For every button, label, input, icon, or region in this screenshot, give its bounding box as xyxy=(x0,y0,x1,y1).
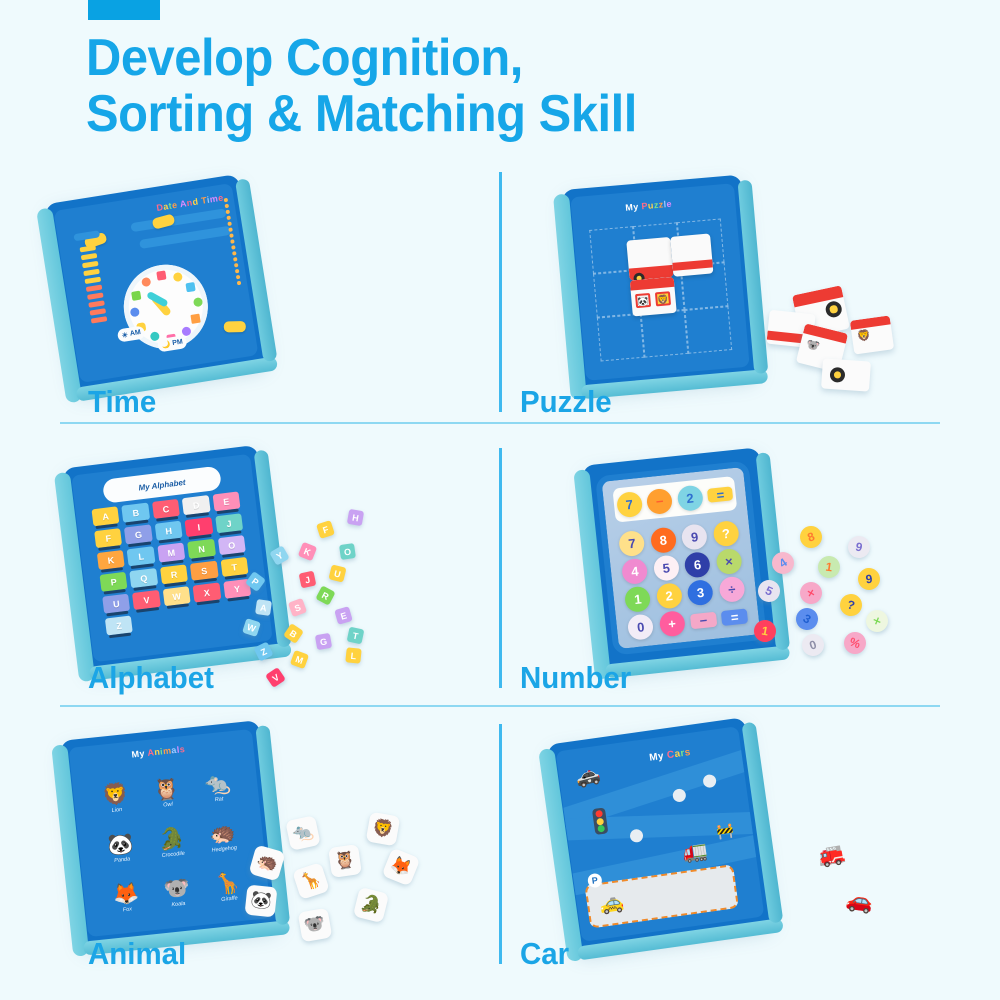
alphabet-tile: K xyxy=(97,550,125,570)
alphabet-tile: J xyxy=(215,513,243,533)
zipper-dots-right xyxy=(224,198,242,286)
car-product-photo: My Cars 🚓 🚧 🚛 P 🚕 xyxy=(500,724,1000,954)
clock-marker xyxy=(129,307,139,317)
animal-icon: 🐨 xyxy=(163,877,191,901)
alphabet-tile: B xyxy=(122,503,150,523)
animal-icon: 🦁 xyxy=(101,783,129,807)
alphabet-loose-tile: F xyxy=(316,520,335,539)
alphabet-tile: E xyxy=(212,491,240,511)
alphabet-tile: Q xyxy=(130,568,158,588)
clock-marker xyxy=(191,313,201,323)
time-slider-knob-3 xyxy=(224,321,246,332)
puzzle-product-photo: My Puzzle xyxy=(500,172,1000,402)
animal-loose-piece: 🦉 xyxy=(328,844,362,878)
animal-card: 🦉Owl xyxy=(152,777,181,809)
keypad-tile: ? xyxy=(712,519,739,546)
taxi-icon: 🚕 xyxy=(598,889,626,917)
product-feature-grid: Date And Time ☀ AM xyxy=(0,172,1000,1000)
cell-label-alphabet: Alphabet xyxy=(88,660,214,696)
animal-loose-piece: 🐀 xyxy=(285,815,321,851)
puzzle-piece-loose-4: 🦁 xyxy=(850,315,894,354)
car-quiet-book: My Cars 🚓 🚧 🚛 P 🚕 xyxy=(546,717,773,951)
keypad-tile: 7 xyxy=(618,529,645,556)
alphabet-loose-tile: H xyxy=(347,509,364,526)
number-loose-tile: × xyxy=(798,580,825,607)
keypad-tile: = xyxy=(721,608,748,626)
page-title: Develop Cognition, Sorting & Matching Sk… xyxy=(86,30,885,142)
alphabet-loose-tile: S xyxy=(288,598,307,617)
animal-loose-piece: 🦒 xyxy=(292,862,330,900)
equation-tile: 7 xyxy=(616,490,643,517)
cell-label-puzzle: Puzzle xyxy=(520,384,612,420)
traffic-cone-icon: 🚧 xyxy=(715,822,735,841)
keypad-tile: 3 xyxy=(687,578,714,605)
alphabet-tile: F xyxy=(94,528,122,548)
car-loose-piece: 🚒 xyxy=(816,840,848,870)
animal-icon: 🦉 xyxy=(152,777,180,801)
alphabet-loose-tile: L xyxy=(345,647,361,663)
time-quiet-book: Date And Time ☀ AM xyxy=(44,174,267,392)
clock-marker xyxy=(186,281,196,291)
cell-label-animal: Animal xyxy=(88,936,186,972)
alphabet-tile: P xyxy=(100,572,128,592)
animal-card-grid: 🦁Lion🦉Owl🐀Rat🐼Panda🐊Crocodile🦔Hedgehog🦊F… xyxy=(88,760,257,925)
feature-cell-animal[interactable]: My Animals 🦁Lion🦉Owl🐀Rat🐼Panda🐊Crocodile… xyxy=(0,724,500,1000)
number-loose-tile: 9 xyxy=(857,567,881,591)
keypad-tile: 1 xyxy=(624,585,651,612)
alphabet-tile: V xyxy=(132,590,160,610)
alphabet-quiet-book: My Alphabet ABCDEFGHIJKLMNOPQRSTUVWXYZ xyxy=(62,445,281,671)
animal-card: 🐼Panda xyxy=(106,832,135,864)
alphabet-loose-tile: M xyxy=(290,650,309,669)
alphabet-tile: X xyxy=(193,582,221,602)
number-loose-tile: 0 xyxy=(799,631,827,659)
keypad-tile: ÷ xyxy=(718,575,745,602)
date-slider-knob-1 xyxy=(151,213,175,229)
animal-icon: 🦒 xyxy=(214,871,242,895)
equation-tile: − xyxy=(646,487,673,514)
number-quiet-book: 7−2= 789?456×123÷0+−= xyxy=(582,447,780,668)
animal-icon: 🦔 xyxy=(209,822,237,846)
sun-icon: ☀ xyxy=(121,331,128,340)
animal-card: 🐊Crocodile xyxy=(158,827,187,859)
feature-cell-alphabet[interactable]: My Alphabet ABCDEFGHIJKLMNOPQRSTUVWXYZ F… xyxy=(0,448,500,724)
animal-card: 🦔Hedgehog xyxy=(209,822,238,854)
alphabet-tile: I xyxy=(185,517,213,537)
time-product-photo: Date And Time ☀ AM xyxy=(0,172,500,402)
number-loose-tile: 1 xyxy=(817,555,842,580)
animal-icon: 🐀 xyxy=(203,772,231,796)
alphabet-tile: N xyxy=(187,539,215,559)
alphabet-loose-tile: O xyxy=(339,543,356,560)
alphabet-tile: M xyxy=(157,542,185,562)
alphabet-loose-tile: K xyxy=(298,542,318,562)
alphabet-tile: O xyxy=(218,535,246,555)
number-loose-tile: × xyxy=(863,607,892,636)
alphabet-loose-tile: G xyxy=(315,633,332,650)
keypad-tile: 0 xyxy=(627,613,654,640)
keypad-tile: + xyxy=(658,610,685,637)
clock-marker xyxy=(141,277,151,287)
number-keypad: 789?456×123÷0+−= xyxy=(615,518,752,643)
animal-card: 🐨Koala xyxy=(163,877,192,909)
alphabet-tile: L xyxy=(127,546,155,566)
animal-loose-piece: 🐼 xyxy=(245,885,278,918)
animal-loose-piece: 🐨 xyxy=(298,908,333,943)
animal-card: 🐀Rat xyxy=(203,772,232,804)
animal-product-photo: My Animals 🦁Lion🦉Owl🐀Rat🐼Panda🐊Crocodile… xyxy=(0,724,500,954)
animal-icon: 🐼 xyxy=(106,832,134,856)
number-loose-tile: 9 xyxy=(846,534,872,560)
animal-card: 🦁Lion xyxy=(101,783,130,815)
accent-bar xyxy=(88,0,160,20)
alphabet-tile: Z xyxy=(105,615,133,635)
animal-icon: 🐊 xyxy=(158,827,186,851)
keypad-tile: 6 xyxy=(684,551,711,578)
moon-icon: 🌙 xyxy=(161,340,171,349)
keypad-tile: 8 xyxy=(650,526,677,553)
equation-strip: 7−2= xyxy=(612,476,737,523)
alphabet-tile: W xyxy=(163,586,191,606)
feature-cell-puzzle[interactable]: My Puzzle xyxy=(500,172,1000,448)
puzzle-book-title: My Puzzle xyxy=(625,199,672,213)
alphabet-tile: A xyxy=(91,506,119,526)
alphabet-tile: T xyxy=(220,557,248,577)
animal-icon: 🦊 xyxy=(112,882,140,906)
alphabet-tile: D xyxy=(182,495,210,515)
puzzle-piece-placed-1 xyxy=(626,237,673,281)
alphabet-loose-tile: R xyxy=(315,585,335,605)
police-car-icon: 🚓 xyxy=(573,761,603,791)
cell-label-number: Number xyxy=(520,660,631,696)
alphabet-loose-tile: T xyxy=(347,627,365,645)
number-loose-tile: % xyxy=(841,629,869,657)
animal-loose-piece: 🐊 xyxy=(353,887,389,923)
date-slider-track-2 xyxy=(139,226,231,249)
alphabet-tile: G xyxy=(124,524,152,544)
keypad-tile: 4 xyxy=(621,557,648,584)
book-page: My Puzzle xyxy=(570,183,749,381)
feature-cell-car[interactable]: My Cars 🚓 🚧 🚛 P 🚕 xyxy=(500,724,1000,1000)
book-page: My Animals 🦁Lion🦉Owl🐀Rat🐼Panda🐊Crocodile… xyxy=(69,729,272,937)
alphabet-tile: R xyxy=(160,564,188,584)
clock-marker xyxy=(192,297,202,307)
alphabet-loose-tile: V xyxy=(265,667,286,688)
animal-card: 🦒Giraffe xyxy=(214,871,243,903)
car-book-title: My Cars xyxy=(649,747,692,764)
time-tick-column xyxy=(80,245,108,324)
cell-label-car: Car xyxy=(520,936,569,972)
number-loose-tile: ? xyxy=(837,591,864,618)
alphabet-tile: U xyxy=(102,594,130,614)
animal-book-title: My Animals xyxy=(131,744,185,760)
alphabet-loose-tile: E xyxy=(334,606,353,625)
keypad-tile: 2 xyxy=(655,582,682,609)
keypad-tile: 5 xyxy=(652,554,679,581)
equation-tile: = xyxy=(707,486,733,503)
car-loose-piece: 🚗 xyxy=(844,886,875,916)
alphabet-tile: S xyxy=(190,561,218,581)
animal-loose-piece: 🦁 xyxy=(366,812,401,847)
alphabet-tile-grid: ABCDEFGHIJKLMNOPQRSTUVWXYZ xyxy=(91,491,253,635)
keypad-tile: − xyxy=(690,611,717,629)
number-product-photo: 7−2= 789?456×123÷0+−= 894195×?3×10% xyxy=(500,448,1000,688)
keypad-tile: × xyxy=(715,547,742,574)
clock-marker xyxy=(156,270,166,280)
keypad-tile: 9 xyxy=(681,523,708,550)
alphabet-loose-tile: U xyxy=(328,564,346,582)
alphabet-tile: H xyxy=(155,521,183,541)
book-page: My Cars 🚓 🚧 🚛 P 🚕 xyxy=(556,726,765,942)
book-page: Date And Time ☀ AM xyxy=(53,183,258,383)
calculator-screen: 7−2= 789?456×123÷0+−= xyxy=(595,460,767,655)
clock-marker xyxy=(131,290,141,300)
animal-card: 🦊Fox xyxy=(112,882,141,914)
puzzle-piece-placed-3: 🐼 🦁 xyxy=(630,277,677,317)
feature-cell-number[interactable]: 7−2= 789?456×123÷0+−= 894195×?3×10% Numb… xyxy=(500,448,1000,724)
animal-loose-piece: 🦊 xyxy=(381,847,420,886)
equation-tile: 2 xyxy=(676,484,703,511)
cell-label-time: Time xyxy=(88,384,156,420)
alphabet-product-photo: My Alphabet ABCDEFGHIJKLMNOPQRSTUVWXYZ F… xyxy=(0,448,500,688)
puzzle-quiet-book: My Puzzle xyxy=(562,175,759,390)
number-loose-tile: 8 xyxy=(797,523,825,551)
number-loose-tile: 3 xyxy=(792,604,822,634)
clock-marker xyxy=(181,326,191,336)
feature-cell-time[interactable]: Date And Time ☀ AM xyxy=(0,172,500,448)
alphabet-tile: C xyxy=(152,499,180,519)
puzzle-piece-loose-5 xyxy=(821,358,871,391)
alphabet-loose-tile: J xyxy=(299,571,317,589)
cement-mixer-icon: 🚛 xyxy=(681,838,709,866)
puzzle-piece-placed-2 xyxy=(670,233,713,276)
alphabet-loose-tile: A xyxy=(255,599,272,616)
clock-marker xyxy=(172,272,182,282)
